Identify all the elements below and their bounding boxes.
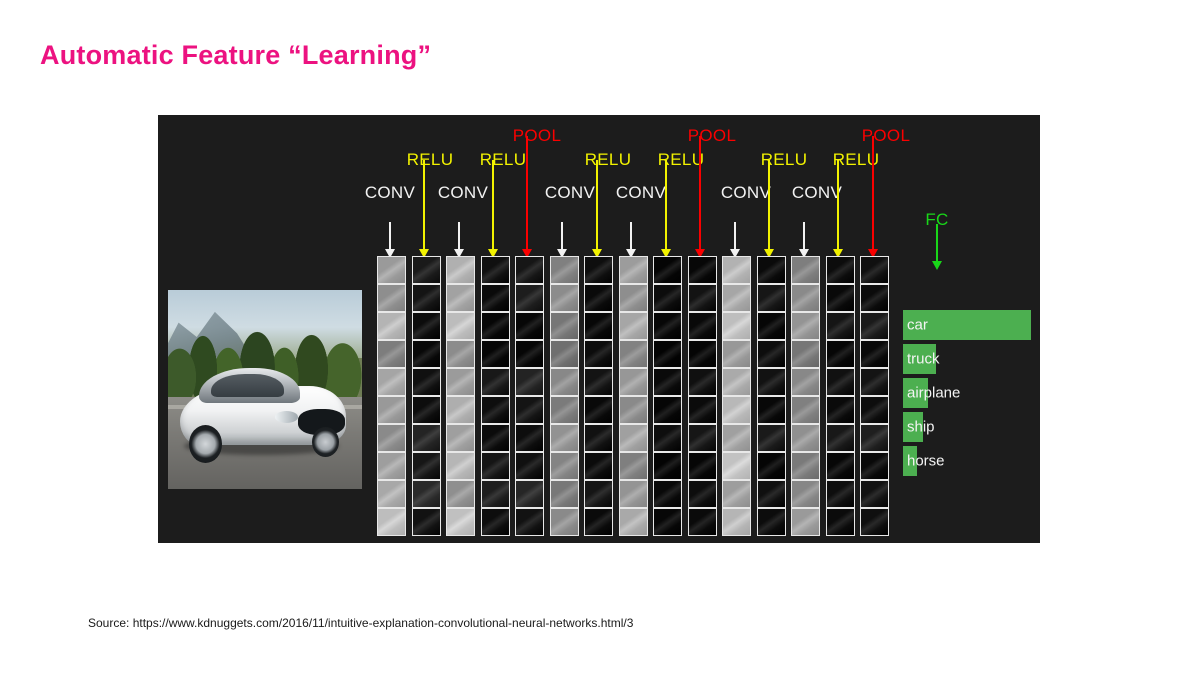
feature-map-tile <box>653 452 682 480</box>
class-label-airplane: airplane <box>907 386 960 401</box>
feature-map-tile <box>860 368 889 396</box>
arrow-shaft <box>936 224 938 261</box>
feature-map-tile <box>515 368 544 396</box>
feature-map-tile <box>446 508 475 536</box>
feature-map-tile <box>550 508 579 536</box>
feature-map-tile <box>584 340 613 368</box>
feature-map-tile <box>584 368 613 396</box>
feature-map-tile <box>722 480 751 508</box>
arrow-yellow-8 <box>660 160 672 258</box>
feature-map-tile <box>688 284 717 312</box>
feature-map-tile <box>653 284 682 312</box>
arrow-white-10 <box>729 222 741 258</box>
feature-map-tile <box>550 424 579 452</box>
feature-map-tile <box>550 480 579 508</box>
feature-map-column-conv-12 <box>791 256 820 536</box>
feature-map-tile <box>860 312 889 340</box>
feature-map-column-pool-14 <box>860 256 889 536</box>
feature-map-tile <box>550 256 579 284</box>
class-prediction-row: airplane <box>903 378 1031 412</box>
feature-map-tile <box>791 508 820 536</box>
feature-map-tile <box>826 452 855 480</box>
class-prediction-bars: cartruckairplaneshiphorse <box>903 310 1031 480</box>
stage-label-conv-7: CONV <box>616 183 666 203</box>
feature-map-tile <box>377 340 406 368</box>
feature-map-tile <box>688 396 717 424</box>
arrow-yellow-11 <box>763 160 775 258</box>
photo-car-window <box>211 374 285 398</box>
feature-map-tile <box>446 452 475 480</box>
feature-map-tile <box>377 424 406 452</box>
feature-map-tile <box>826 368 855 396</box>
arrow-red-9 <box>694 136 706 258</box>
feature-map-tile <box>757 452 786 480</box>
feature-map-tile <box>653 508 682 536</box>
feature-map-tile <box>826 480 855 508</box>
feature-map-tile <box>860 452 889 480</box>
feature-map-tile <box>826 312 855 340</box>
feature-map-tile <box>860 508 889 536</box>
feature-map-tile <box>757 340 786 368</box>
stage-label-conv-0: CONV <box>365 183 415 203</box>
feature-map-column-relu-3 <box>481 256 510 536</box>
feature-map-tile <box>481 368 510 396</box>
feature-map-tile <box>722 340 751 368</box>
feature-map-tile <box>584 452 613 480</box>
feature-map-tile <box>619 340 648 368</box>
feature-map-tile <box>688 424 717 452</box>
arrow-white-12 <box>798 222 810 258</box>
feature-map-tile <box>653 424 682 452</box>
feature-map-tile <box>826 508 855 536</box>
class-label-ship: ship <box>907 420 935 435</box>
feature-map-tile <box>619 368 648 396</box>
feature-map-column-conv-5 <box>550 256 579 536</box>
arrow-yellow-13 <box>832 160 844 258</box>
feature-map-tile <box>791 340 820 368</box>
feature-map-tile <box>791 284 820 312</box>
feature-map-tile <box>481 452 510 480</box>
feature-map-tile <box>860 284 889 312</box>
feature-map-tile <box>481 508 510 536</box>
feature-map-tile <box>826 424 855 452</box>
feature-map-tile <box>584 256 613 284</box>
feature-map-tile <box>722 396 751 424</box>
feature-map-column-conv-0 <box>377 256 406 536</box>
feature-map-tile <box>619 508 648 536</box>
feature-map-tile <box>412 424 441 452</box>
arrow-shaft <box>423 160 425 249</box>
class-label-horse: horse <box>907 454 945 469</box>
feature-map-tile <box>688 508 717 536</box>
feature-map-tile <box>653 312 682 340</box>
class-label-truck: truck <box>907 352 940 367</box>
class-label-car: car <box>907 318 928 333</box>
feature-map-column-relu-11 <box>757 256 786 536</box>
feature-map-tile <box>515 312 544 340</box>
arrow-shaft <box>872 136 874 249</box>
cnn-architecture-figure: CONVRELUCONVRELUPOOLCONVRELUCONVRELUPOOL… <box>158 115 1040 543</box>
feature-map-tile <box>619 480 648 508</box>
feature-map-tile <box>688 452 717 480</box>
arrow-shaft <box>768 160 770 249</box>
feature-map-tile <box>446 424 475 452</box>
input-image-car-photo <box>168 290 362 489</box>
feature-map-tile <box>377 508 406 536</box>
page-title: Automatic Feature “Learning” <box>40 40 431 71</box>
feature-map-tile <box>791 396 820 424</box>
arrow-head <box>932 261 942 270</box>
feature-map-tile <box>550 368 579 396</box>
arrow-shaft <box>630 222 632 249</box>
feature-map-tile <box>757 508 786 536</box>
feature-map-tile <box>757 312 786 340</box>
feature-map-tile <box>584 424 613 452</box>
feature-map-tile <box>412 284 441 312</box>
feature-map-tile <box>791 256 820 284</box>
feature-map-tile <box>377 256 406 284</box>
feature-map-tile <box>550 284 579 312</box>
feature-map-tile <box>757 424 786 452</box>
feature-map-tile <box>515 396 544 424</box>
arrow-red-4 <box>521 136 533 258</box>
feature-map-tile <box>515 256 544 284</box>
feature-map-column-conv-2 <box>446 256 475 536</box>
arrow-white-2 <box>453 222 465 258</box>
feature-map-tile <box>550 312 579 340</box>
feature-map-tile <box>619 396 648 424</box>
feature-map-tile <box>446 256 475 284</box>
feature-map-tile <box>653 396 682 424</box>
arrow-green-15 <box>931 224 943 270</box>
feature-map-tile <box>515 340 544 368</box>
feature-map-tile <box>860 480 889 508</box>
feature-map-tile <box>412 452 441 480</box>
arrow-shaft <box>596 160 598 249</box>
feature-map-tile <box>860 424 889 452</box>
feature-map-tile <box>757 284 786 312</box>
feature-map-tile <box>860 396 889 424</box>
feature-map-tile <box>791 480 820 508</box>
feature-map-tile <box>446 312 475 340</box>
feature-map-tile <box>826 256 855 284</box>
feature-map-column-conv-10 <box>722 256 751 536</box>
arrow-yellow-1 <box>418 160 430 258</box>
feature-map-tile <box>412 340 441 368</box>
feature-map-tile <box>791 312 820 340</box>
arrow-shaft <box>837 160 839 249</box>
arrow-yellow-3 <box>487 160 499 258</box>
feature-map-tile <box>826 284 855 312</box>
feature-map-tile <box>584 508 613 536</box>
feature-map-tile <box>481 424 510 452</box>
feature-map-tile <box>377 396 406 424</box>
feature-map-tile <box>584 312 613 340</box>
feature-map-tile <box>550 452 579 480</box>
class-prediction-row: car <box>903 310 1031 344</box>
arrow-red-14 <box>867 136 879 258</box>
feature-map-tile <box>619 284 648 312</box>
feature-map-tile <box>688 340 717 368</box>
feature-map-column-relu-6 <box>584 256 613 536</box>
feature-map-tile <box>377 452 406 480</box>
feature-map-tile <box>377 312 406 340</box>
feature-map-tile <box>688 368 717 396</box>
feature-map-tile <box>446 368 475 396</box>
feature-map-tile <box>446 340 475 368</box>
feature-map-tile <box>481 480 510 508</box>
feature-map-tile <box>515 424 544 452</box>
feature-map-tile <box>653 368 682 396</box>
feature-map-tile <box>722 256 751 284</box>
feature-map-column-pool-4 <box>515 256 544 536</box>
feature-map-tile <box>377 480 406 508</box>
feature-map-tile <box>791 424 820 452</box>
feature-map-tile <box>584 480 613 508</box>
arrow-white-7 <box>625 222 637 258</box>
feature-map-column-relu-13 <box>826 256 855 536</box>
feature-map-tile <box>722 312 751 340</box>
feature-map-tile <box>412 312 441 340</box>
arrow-shaft <box>734 222 736 249</box>
feature-map-tile <box>653 340 682 368</box>
stage-label-conv-5: CONV <box>545 183 595 203</box>
feature-map-tile <box>619 452 648 480</box>
feature-map-tile <box>515 508 544 536</box>
feature-map-tile <box>515 452 544 480</box>
feature-map-tile <box>619 424 648 452</box>
feature-map-tile <box>619 256 648 284</box>
feature-map-column-relu-8 <box>653 256 682 536</box>
feature-map-tile <box>481 256 510 284</box>
feature-map-tile <box>722 508 751 536</box>
arrow-shaft <box>803 222 805 249</box>
feature-map-tile <box>722 284 751 312</box>
feature-map-tile <box>412 480 441 508</box>
stage-label-relu-1: RELU <box>407 150 454 170</box>
feature-map-tile <box>550 396 579 424</box>
feature-map-tile <box>688 312 717 340</box>
feature-map-tile <box>412 368 441 396</box>
feature-map-tile <box>481 284 510 312</box>
arrow-shaft <box>699 136 701 249</box>
class-prediction-row: truck <box>903 344 1031 378</box>
feature-map-column-conv-7 <box>619 256 648 536</box>
arrow-shaft <box>389 222 391 249</box>
feature-map-tile <box>446 480 475 508</box>
feature-map-column-pool-9 <box>688 256 717 536</box>
class-prediction-row: horse <box>903 446 1031 480</box>
class-prediction-row: ship <box>903 412 1031 446</box>
feature-map-tile <box>791 368 820 396</box>
stage-label-conv-2: CONV <box>438 183 488 203</box>
feature-map-tile <box>826 396 855 424</box>
arrow-white-5 <box>556 222 568 258</box>
feature-map-tile <box>412 256 441 284</box>
arrow-shaft <box>458 222 460 249</box>
arrow-shaft <box>561 222 563 249</box>
feature-map-tile <box>688 256 717 284</box>
feature-map-tile <box>412 396 441 424</box>
arrow-white-0 <box>384 222 396 258</box>
feature-map-tile <box>757 256 786 284</box>
photo-car-wheel-front <box>312 427 339 457</box>
arrow-shaft <box>492 160 494 249</box>
feature-map-tile <box>412 508 441 536</box>
feature-map-tile <box>860 340 889 368</box>
feature-map-tile <box>515 284 544 312</box>
feature-map-tile <box>757 480 786 508</box>
feature-map-tile <box>446 284 475 312</box>
arrow-shaft <box>526 136 528 249</box>
feature-map-tile <box>757 368 786 396</box>
feature-map-tile <box>722 424 751 452</box>
feature-map-tile <box>550 340 579 368</box>
feature-map-tile <box>653 256 682 284</box>
feature-map-tile <box>377 368 406 396</box>
feature-map-tile <box>688 480 717 508</box>
arrow-yellow-6 <box>591 160 603 258</box>
feature-map-tile <box>619 312 648 340</box>
feature-map-column-relu-1 <box>412 256 441 536</box>
source-caption: Source: https://www.kdnuggets.com/2016/1… <box>88 616 633 630</box>
arrow-shaft <box>665 160 667 249</box>
feature-map-tile <box>481 312 510 340</box>
feature-map-tile <box>722 368 751 396</box>
feature-map-tile <box>377 284 406 312</box>
feature-map-tile <box>791 452 820 480</box>
feature-map-tile <box>757 396 786 424</box>
feature-map-tile <box>584 284 613 312</box>
feature-map-tile <box>826 340 855 368</box>
feature-map-tile <box>653 480 682 508</box>
feature-map-tile <box>584 396 613 424</box>
feature-map-tile <box>722 452 751 480</box>
feature-map-tile <box>481 340 510 368</box>
feature-map-tile <box>481 396 510 424</box>
feature-map-tile <box>515 480 544 508</box>
feature-map-tile <box>860 256 889 284</box>
feature-map-tile <box>446 396 475 424</box>
